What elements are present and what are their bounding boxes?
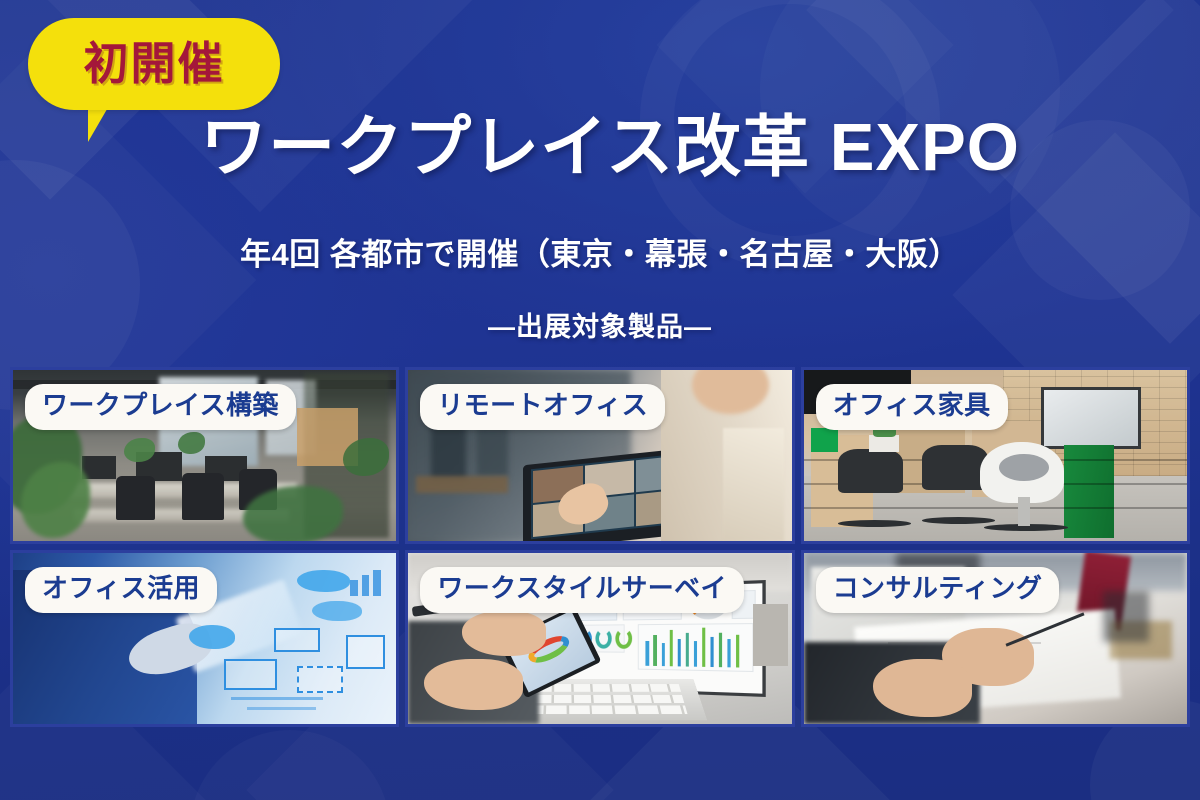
category-card-label: ワークプレイス構築 [25,384,296,430]
category-card[interactable]: オフィス家具 [801,367,1190,544]
category-card[interactable]: オフィス活用 [10,550,399,727]
category-card-label: ワークスタイルサーベイ [420,567,744,613]
category-card[interactable]: ワークスタイルサーベイ [405,550,794,727]
exhibit-section-heading: ―出展対象製品― [0,313,1200,343]
workplace-expo-banner: 初開催 ワークプレイス改革 EXPO 年4回 各都市で開催（東京・幕張・名古屋・… [0,0,1200,800]
category-card[interactable]: コンサルティング [801,550,1190,727]
category-card[interactable]: リモートオフィス [405,367,794,544]
first-time-badge: 初開催 [28,18,280,110]
category-card[interactable]: ワークプレイス構築 [10,367,399,544]
exhibit-category-grid: ワークプレイス構築 [10,367,1190,727]
category-card-label: オフィス活用 [25,567,217,613]
page-title: ワークプレイス改革 EXPO [0,112,1200,184]
category-card-label: コンサルティング [816,567,1060,613]
badge-label: 初開催 [28,18,280,110]
event-schedule-subtitle: 年4回 各都市で開催（東京・幕張・名古屋・大阪） [0,238,1200,272]
category-card-label: リモートオフィス [420,384,665,430]
category-card-label: オフィス家具 [816,384,1008,430]
